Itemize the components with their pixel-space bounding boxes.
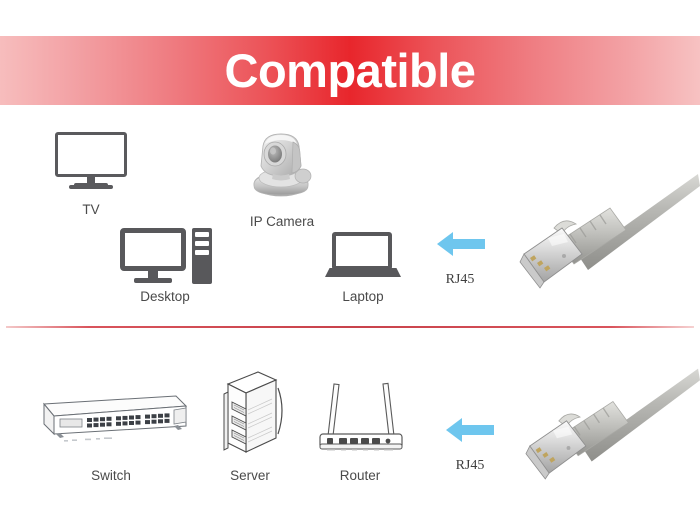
ip-camera-label: IP Camera bbox=[238, 214, 326, 229]
laptop-icon bbox=[325, 232, 401, 280]
ip-camera-icon bbox=[243, 128, 319, 200]
desktop-tower bbox=[192, 228, 212, 284]
tv-screen bbox=[55, 132, 127, 177]
tv-foot-lower bbox=[69, 185, 113, 189]
tv-label: TV bbox=[51, 202, 131, 217]
switch-label: Switch bbox=[33, 468, 189, 483]
desktop-computer-icon bbox=[120, 228, 212, 288]
arrow-left-icon-bottom bbox=[444, 414, 496, 446]
compatibility-diagram: Compatible TV Desktop bbox=[0, 0, 700, 525]
bottom-rj45-label: RJ45 bbox=[433, 458, 507, 474]
desktop-monitor-base bbox=[134, 278, 172, 283]
laptop-base bbox=[325, 268, 401, 277]
tower-bay-3 bbox=[195, 250, 209, 255]
section-divider bbox=[6, 326, 694, 328]
router-label: Router bbox=[322, 468, 398, 483]
wifi-router-icon bbox=[312, 378, 410, 460]
tower-bay-2 bbox=[195, 241, 209, 246]
rj45-patch-cable-top bbox=[518, 172, 700, 307]
arrow-left-icon bbox=[435, 228, 487, 260]
tower-bay-1 bbox=[195, 232, 209, 237]
tv-icon bbox=[55, 132, 127, 194]
server-rack-icon bbox=[212, 366, 288, 462]
header-banner: Compatible bbox=[0, 36, 700, 105]
top-rj45-label: RJ45 bbox=[423, 272, 497, 288]
rj45-patch-cable-bottom bbox=[524, 362, 700, 502]
network-switch-icon bbox=[30, 388, 190, 450]
server-label: Server bbox=[214, 468, 286, 483]
desktop-monitor bbox=[120, 228, 186, 271]
laptop-screen bbox=[332, 232, 392, 270]
laptop-label: Laptop bbox=[323, 289, 403, 304]
page-title: Compatible bbox=[0, 36, 700, 105]
desktop-label: Desktop bbox=[125, 289, 205, 304]
